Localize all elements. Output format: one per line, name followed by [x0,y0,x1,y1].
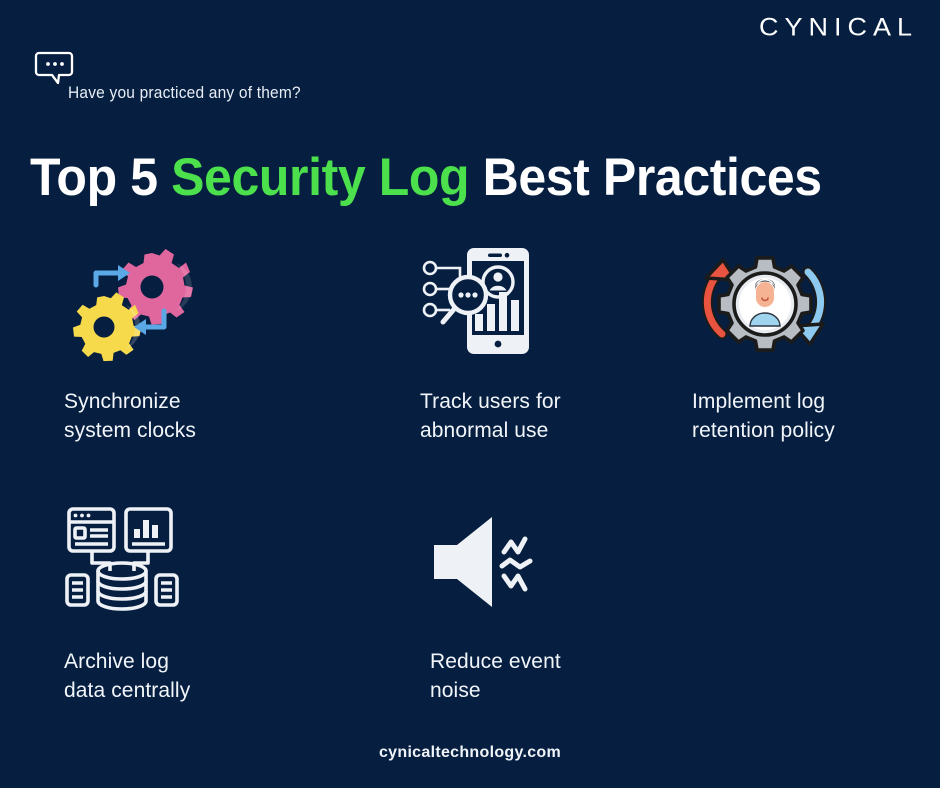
title-accent: Security Log [171,147,469,206]
tips-grid: Synchronizesystem clocks [0,236,940,736]
footer-url[interactable]: cynicaltechnology.com [0,744,940,762]
infographic-page: CYNICAL Have you practiced any of them? … [0,0,940,788]
tip-3-line-2: retention policy [692,419,835,442]
tips-row-2: Archive logdata centrally [0,496,940,736]
chat-bubble-icon [36,50,76,86]
speaker-noise-icon [430,496,730,626]
brand-logo: CYNICAL [759,15,918,40]
tip-5-line-1: Reduce event [430,650,561,673]
title-part-2: Best Practices [469,147,822,206]
tip-caption-1: Synchronizesystem clocks [64,388,364,446]
tip-5-line-2: noise [430,679,481,702]
tip-4-line-1: Archive log [64,650,169,673]
user-gear-retention-icon [692,236,940,366]
tip-3-line-1: Implement log [692,390,825,413]
tip-4-line-2: data centrally [64,679,190,702]
page-title: Top 5 Security Log Best Practices [30,146,822,207]
tip-card-3: Implement logretention policy [692,236,940,446]
tip-2-line-2: abnormal use [420,419,548,442]
tip-caption-3: Implement logretention policy [692,388,940,446]
tip-1-line-1: Synchronize [64,390,181,413]
tip-card-5: Reduce eventnoise [430,496,730,706]
kicker-text: Have you practiced any of them? [68,84,516,103]
tip-caption-2: Track users forabnormal use [420,388,720,446]
mobile-user-analytics-icon [420,236,720,366]
database-archive-icon [64,496,364,626]
tip-2-line-1: Track users for [420,390,561,413]
sync-gears-icon [64,236,364,366]
tip-1-line-2: system clocks [64,419,196,442]
tip-card-1: Synchronizesystem clocks [64,236,364,446]
tip-caption-4: Archive logdata centrally [64,648,364,706]
title-part-1: Top 5 [30,147,171,206]
tip-card-4: Archive logdata centrally [64,496,364,706]
tip-card-2: Track users forabnormal use [420,236,720,446]
tip-caption-5: Reduce eventnoise [430,648,730,706]
kicker-block: Have you practiced any of them? [36,50,516,102]
tips-row-1: Synchronizesystem clocks [0,236,940,496]
